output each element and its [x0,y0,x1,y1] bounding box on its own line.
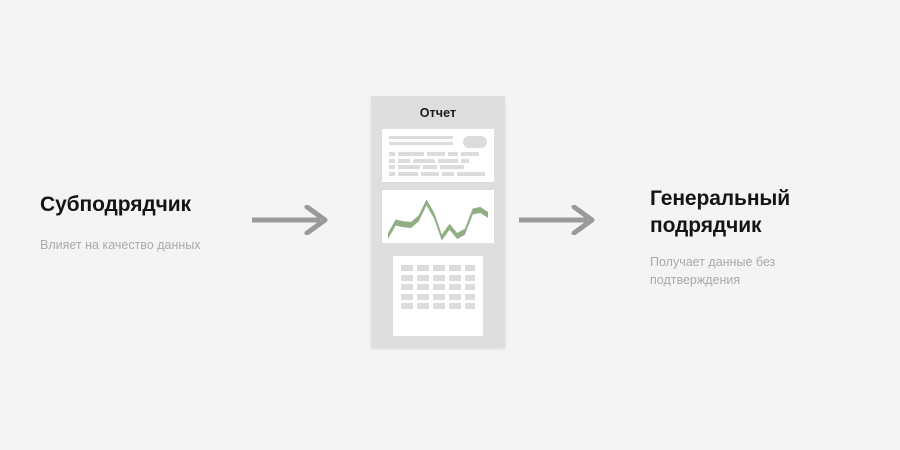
table-cell [465,275,475,281]
table-cell [449,303,461,309]
text-row [389,159,487,163]
report-table-block [393,256,483,336]
table-cell [449,284,461,290]
table-cell [417,303,429,309]
general-contractor-block: Генеральный подрядчик Получает данные бе… [650,186,865,289]
area-chart [382,190,494,243]
table-cell [465,303,475,309]
table-cell [465,284,475,290]
table-cell [433,275,445,281]
arrow-subcontractor-to-report [252,205,332,240]
table-row [401,284,475,290]
text-row [389,152,487,156]
diagram-canvas: Субподрядчик Влияет на качество данных О… [0,0,900,450]
chart-series-label: Отчетные данные [382,243,383,244]
table-row [401,275,475,281]
subcontractor-block: Субподрядчик Влияет на качество данных [40,192,255,255]
general-contractor-title: Генеральный подрядчик [650,186,865,240]
table-cell [401,275,413,281]
table-cell [401,284,413,290]
table-cell [417,284,429,290]
text-row [389,172,487,176]
report-chart-block: Отчетные данные [382,190,494,243]
table-cell [449,294,461,300]
text-row [389,165,487,169]
table-cell [449,275,461,281]
general-contractor-description: Получает данные без подтверждения [650,254,865,290]
table-cell [465,294,475,300]
table-cell [417,265,429,271]
table-cell [417,294,429,300]
table-cell [433,303,445,309]
table-row [401,265,475,271]
subcontractor-title: Субподрядчик [40,192,255,219]
arrow-report-to-contractor [519,205,599,240]
table-cell [401,303,413,309]
table-row [401,294,475,300]
badge-placeholder [463,136,487,148]
report-text-block [382,129,494,182]
table-cell [401,294,413,300]
table-row [401,303,475,309]
subcontractor-description: Влияет на качество данных [40,237,255,255]
table-cell [401,265,413,271]
table-cell [433,294,445,300]
report-card-title: Отчет [371,96,505,120]
text-lines-placeholder [389,136,453,148]
report-card[interactable]: Отчет [371,96,505,347]
table-cell [433,265,445,271]
table-cell [449,265,461,271]
table-cell [417,275,429,281]
table-cell [465,265,475,271]
table-cell [433,284,445,290]
